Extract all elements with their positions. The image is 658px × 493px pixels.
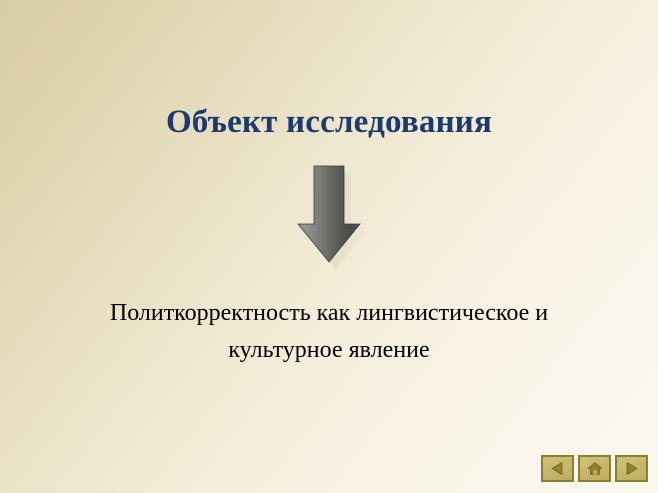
slide-body-text: Политкорректность как лингвистическое и … <box>46 295 612 369</box>
triangle-right-icon <box>624 461 639 476</box>
triangle-left-icon <box>550 461 565 476</box>
down-arrow-icon <box>293 162 377 274</box>
body-line-2: культурное явление <box>46 332 612 369</box>
slide-navigation-bar <box>541 455 648 482</box>
home-icon <box>587 461 603 476</box>
home-button[interactable] <box>578 455 611 482</box>
body-line-1: Политкорректность как лингвистическое и <box>46 295 612 332</box>
previous-slide-button[interactable] <box>541 455 574 482</box>
next-slide-button[interactable] <box>615 455 648 482</box>
down-arrow-graphic <box>293 162 377 274</box>
presentation-slide: Объект исследования <box>0 0 658 493</box>
page-title: Объект исследования <box>0 103 658 141</box>
